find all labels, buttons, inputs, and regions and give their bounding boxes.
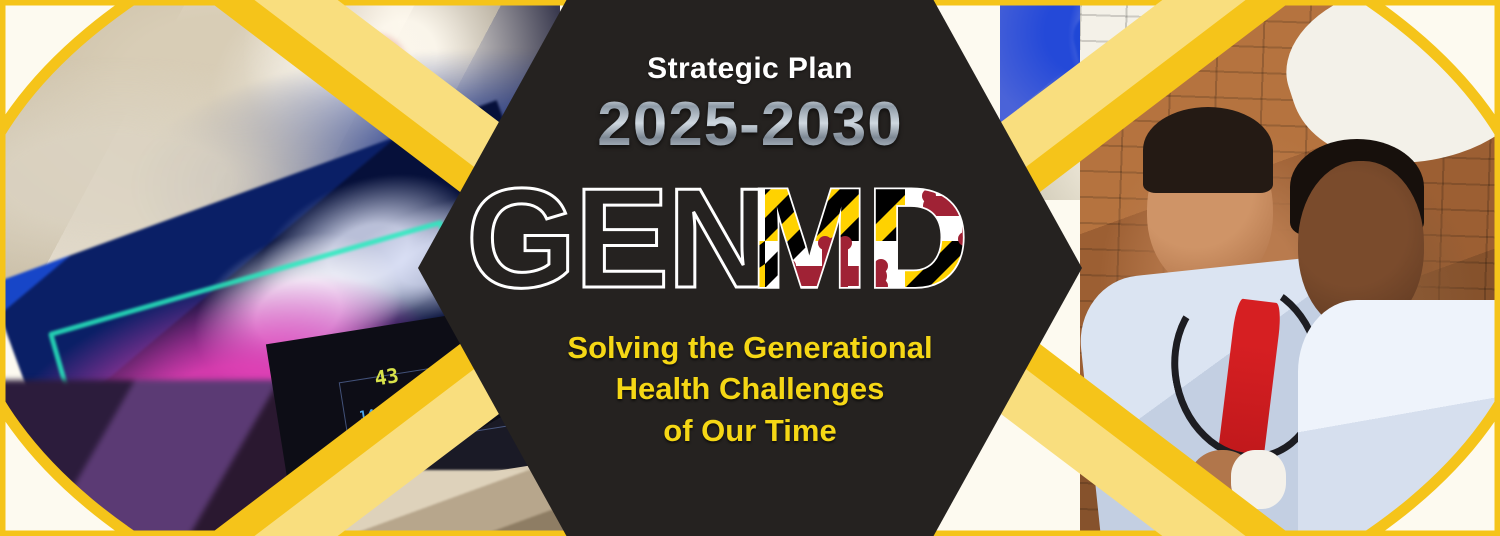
- tagline-line-3: of Our Time: [567, 410, 932, 451]
- tagline-line-2: Health Challenges: [567, 368, 932, 409]
- genmd-wordmark: GEN MD: [460, 171, 1040, 307]
- kicker-strategic-plan: Strategic Plan: [647, 52, 853, 86]
- genmd-md-maryland-flag: MD: [750, 171, 967, 307]
- years-range: 2025-2030: [597, 92, 903, 157]
- strategic-plan-banner: 43 98 145 69 33 48 ▮ ▬▬: [0, 0, 1500, 536]
- genmd-gen-outline: GEN: [466, 171, 768, 307]
- tagline-line-1: Solving the Generational: [567, 327, 932, 368]
- tagline: Solving the Generational Health Challeng…: [567, 327, 932, 451]
